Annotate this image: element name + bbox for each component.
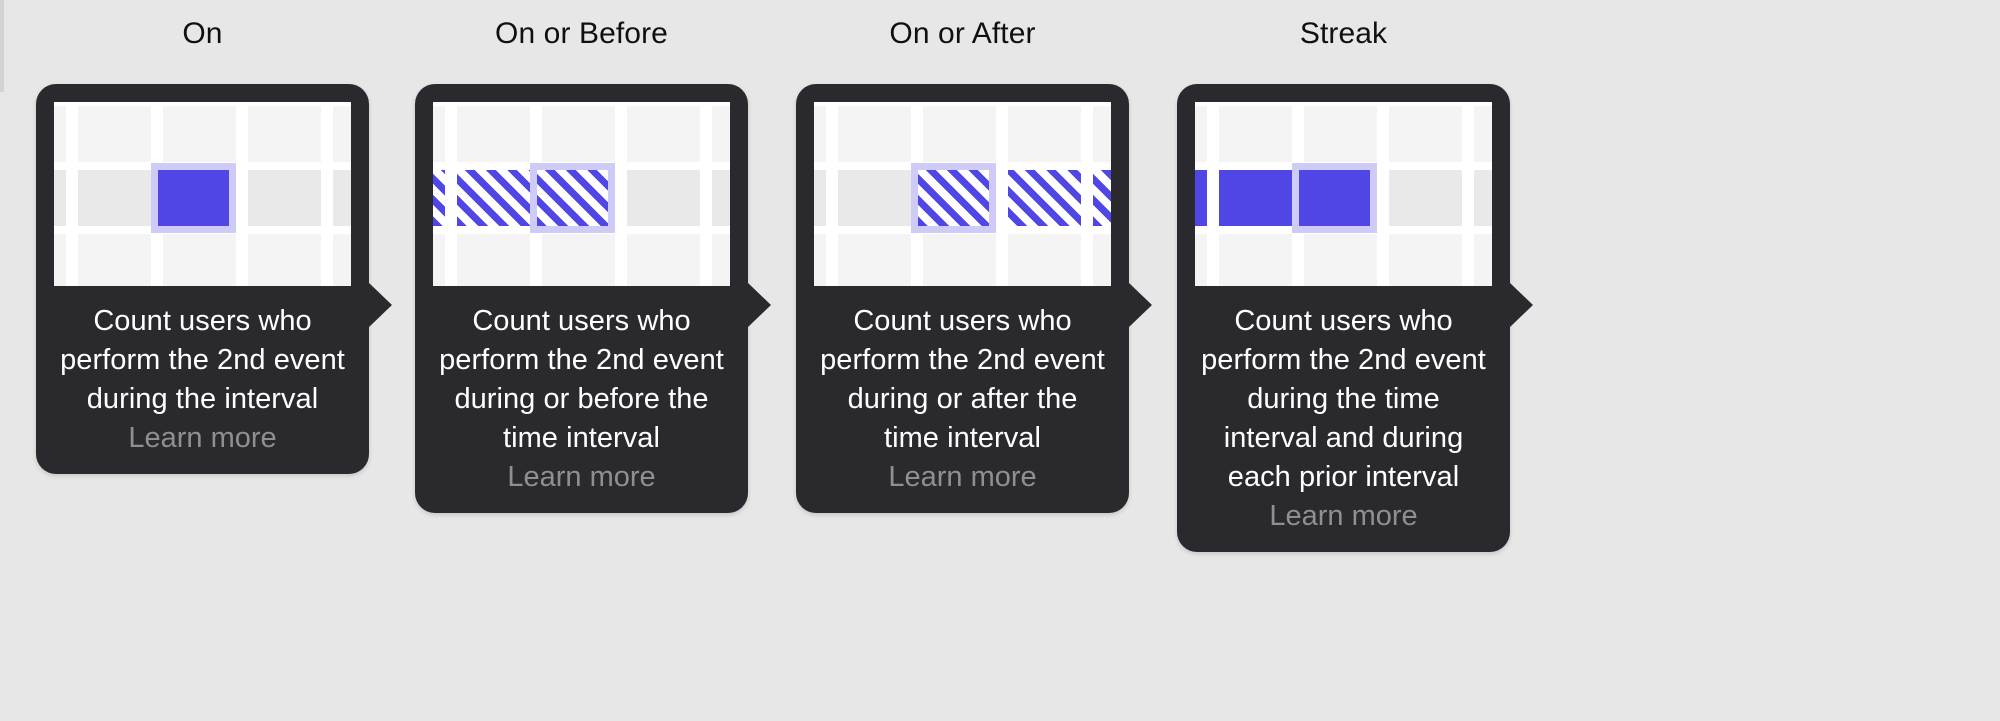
- card-description-on: Count users who perform the 2nd event du…: [54, 286, 351, 419]
- grid-col-gap-4: [700, 102, 712, 286]
- diagram-on-or-before: [433, 102, 730, 286]
- diagram-extend-hatch-left-b: [457, 170, 530, 226]
- grid-col-gap-4: [1462, 102, 1474, 286]
- grid-row-1: [433, 106, 730, 162]
- diagram-extend-solid-left-b: [1219, 170, 1292, 226]
- grid-row-3: [54, 234, 351, 286]
- card-on-or-before[interactable]: Count users who perform the 2nd event du…: [415, 84, 748, 513]
- diagram-extend-hatch-right-a: [996, 170, 1081, 226]
- diagram-streak: [1195, 102, 1492, 286]
- card-arrow-icon: [1509, 282, 1533, 328]
- grid-col-gap-4: [321, 102, 333, 286]
- card-description-on-or-before: Count users who perform the 2nd event du…: [433, 286, 730, 458]
- grid-row-1: [814, 106, 1111, 162]
- grid-col-gap-1: [826, 102, 838, 286]
- diagram-on: [54, 102, 351, 286]
- diagram-highlight-cell: [1299, 170, 1370, 226]
- card-description-on-or-after: Count users who perform the 2nd event du…: [814, 286, 1111, 458]
- card-arrow-icon: [1128, 282, 1152, 328]
- grid-col-gap-3: [996, 102, 1008, 286]
- card-column-on: On Count users who perform the 2nd event…: [36, 0, 369, 474]
- grid-col-gap-1: [1207, 102, 1219, 286]
- card-column-on-or-after: On or After Count users who pe: [796, 0, 1129, 513]
- card-arrow-icon: [368, 282, 392, 328]
- diagram-highlight-cell: [537, 170, 608, 226]
- diagram-extend-solid-left-a: [1195, 170, 1207, 226]
- card-description-streak: Count users who perform the 2nd event du…: [1195, 286, 1492, 497]
- card-title-on-or-after: On or After: [796, 0, 1129, 40]
- grid-col-gap-3: [236, 102, 248, 286]
- learn-more-link-on[interactable]: Learn more: [54, 419, 351, 458]
- grid-col-gap-3: [1377, 102, 1389, 286]
- grid-row-3: [814, 234, 1111, 286]
- diagram-highlight-cell: [918, 170, 989, 226]
- grid-row-1: [54, 106, 351, 162]
- grid-col-gap-1: [66, 102, 78, 286]
- grid-col-gap-1: [445, 102, 457, 286]
- card-title-streak: Streak: [1177, 0, 1510, 40]
- card-on-or-after[interactable]: Count users who perform the 2nd event du…: [796, 84, 1129, 513]
- diagram-highlight-cell: [158, 170, 229, 226]
- learn-more-link-on-or-after[interactable]: Learn more: [814, 458, 1111, 497]
- card-column-on-or-before: On or Before Count users who p: [415, 0, 748, 513]
- diagram-extend-hatch-left-a: [433, 170, 445, 226]
- card-streak[interactable]: Count users who perform the 2nd event du…: [1177, 84, 1510, 552]
- card-title-on-or-before: On or Before: [415, 0, 748, 40]
- grid-col-gap-3: [615, 102, 627, 286]
- card-column-streak: Streak Count users who perform: [1177, 0, 1510, 552]
- card-on[interactable]: Count users who perform the 2nd event du…: [36, 84, 369, 474]
- grid-row-3: [1195, 234, 1492, 286]
- attribution-window-cards-row: On Count users who perform the 2nd event…: [0, 0, 2000, 721]
- card-title-on: On: [36, 0, 369, 40]
- diagram-extend-hatch-right-b: [1093, 170, 1111, 226]
- learn-more-link-streak[interactable]: Learn more: [1195, 497, 1492, 536]
- learn-more-link-on-or-before[interactable]: Learn more: [433, 458, 730, 497]
- grid-row-1: [1195, 106, 1492, 162]
- grid-col-gap-4: [1081, 102, 1093, 286]
- grid-row-3: [433, 234, 730, 286]
- diagram-on-or-after: [814, 102, 1111, 286]
- card-arrow-icon: [747, 282, 771, 328]
